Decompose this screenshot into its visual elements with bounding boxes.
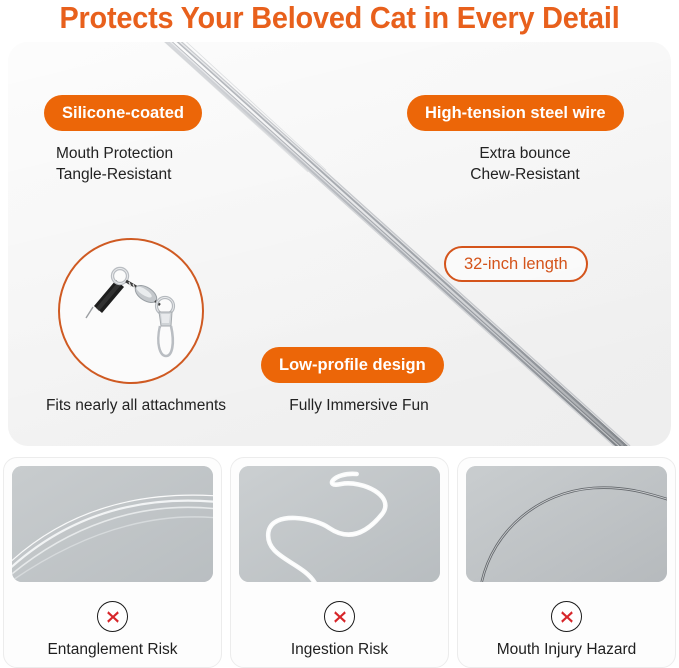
risk-card-entanglement: Entanglement Risk <box>3 457 222 668</box>
risk-card-image-ingestion <box>239 466 440 582</box>
feature-caption-line1: Extra bounce <box>479 145 570 162</box>
clip-swivel-icon <box>60 240 202 382</box>
hero-panel: Silicone-coated Mouth Protection Tangle-… <box>8 42 671 446</box>
risk-card-label: Ingestion Risk <box>291 641 388 659</box>
feature-caption-line2: Chew-Resistant <box>470 166 579 183</box>
feature-pill-low-profile-design: Low-profile design <box>261 347 444 383</box>
risk-card-row: Entanglement Risk Ingestion Risk <box>0 457 679 668</box>
attachment-detail-caption: Fits nearly all attachments <box>22 395 250 416</box>
x-circle-icon <box>551 601 582 632</box>
feature-caption-line2: Tangle-Resistant <box>56 166 171 183</box>
risk-card-image-mouth-injury <box>466 466 667 582</box>
feature-caption-silicone: Mouth Protection Tangle-Resistant <box>56 143 173 185</box>
risk-card-label: Mouth Injury Hazard <box>497 641 637 659</box>
page-title: Protects Your Beloved Cat in Every Detai… <box>24 0 655 36</box>
feature-pill-silicone-coated: Silicone-coated <box>44 95 202 131</box>
feature-caption-lowprofile: Fully Immersive Fun <box>261 395 457 416</box>
risk-card-label: Entanglement Risk <box>47 641 177 659</box>
attachment-detail-circle <box>58 238 204 384</box>
feature-caption-line1: Mouth Protection <box>56 145 173 162</box>
risk-card-image-entanglement <box>12 466 213 582</box>
feature-caption-line1: Fully Immersive Fun <box>289 397 429 414</box>
feature-pill-high-tension-steel-wire: High-tension steel wire <box>407 95 624 131</box>
x-circle-icon <box>97 601 128 632</box>
feature-pill-length: 32-inch length <box>444 246 588 282</box>
x-circle-icon <box>324 601 355 632</box>
feature-caption-steel: Extra bounce Chew-Resistant <box>407 143 643 185</box>
risk-card-mouth-injury: Mouth Injury Hazard <box>457 457 676 668</box>
risk-card-ingestion: Ingestion Risk <box>230 457 449 668</box>
